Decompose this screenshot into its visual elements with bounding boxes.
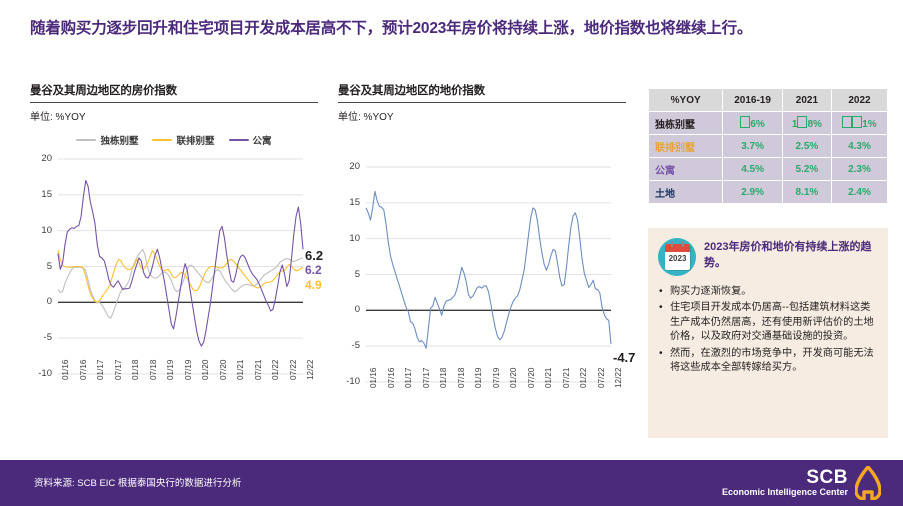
table-header-2: 2021: [782, 89, 831, 112]
calendar-2023-icon: 2023: [658, 238, 696, 276]
table-row: 土地2.9%8.1%2.4%: [649, 181, 888, 204]
x-tick-07-21: 07/21: [254, 360, 263, 381]
x-tick-01-19: 01/19: [474, 368, 483, 389]
chart1-title: 曼谷及其周边地区的房价指数: [30, 82, 318, 98]
table-cell-3-0: 2.9%: [723, 181, 783, 204]
table-cell-2-1: 5.2%: [782, 158, 831, 181]
y-tick-20: 20: [30, 153, 52, 164]
chart1-legend: 独栋别墅联排别墅公寓: [30, 133, 318, 147]
chart2-unit: 单位: %YOY: [338, 108, 626, 123]
x-tick-07-22: 07/22: [289, 360, 298, 381]
chart-panel-land-price: 曼谷及其周边地区的地价指数 单位: %YOY 20151050-5-1001/1…: [338, 82, 626, 390]
x-tick-01-16: 01/16: [369, 368, 378, 389]
table-row: 公寓4.5%5.2%2.3%: [649, 158, 888, 181]
series-line-联排别墅: [58, 250, 303, 302]
series-line-地价指数: [366, 191, 611, 348]
series-line-独栋别墅: [58, 249, 303, 318]
legend-swatch-1: [152, 139, 172, 141]
y-tick-5: 5: [30, 261, 52, 272]
source-note: 资料来源: SCB EIC 根据泰国央行的数据进行分析: [34, 475, 241, 489]
table-cell-0-0: 6%: [723, 112, 783, 135]
table-header-row: %YOY2016-1920212022: [649, 89, 888, 112]
x-tick-07-16: 07/16: [79, 360, 88, 381]
x-tick-07-17: 07/17: [422, 368, 431, 389]
table-body: 独栋别墅6%18%1%联排别墅3.7%2.5%4.3%公寓4.5%5.2%2.3…: [649, 112, 888, 204]
table-cell-0-2: 1%: [831, 112, 887, 135]
x-tick-01-21: 01/21: [236, 360, 245, 381]
table-header-3: 2022: [831, 89, 887, 112]
callout-box: 2023 2023年房价和地价有持续上涨的趋势。 购买力逐渐恢复。住宅项目开发成…: [648, 228, 888, 438]
x-tick-01-19: 01/19: [166, 360, 175, 381]
y-tick-15: 15: [30, 189, 52, 200]
table-row-label-1: 联排别墅: [649, 135, 723, 158]
table-row-label-3: 土地: [649, 181, 723, 204]
scb-logo-main: SCB: [722, 468, 848, 488]
table-row: 联排别墅3.7%2.5%4.3%: [649, 135, 888, 158]
x-tick-07-19: 07/19: [184, 360, 193, 381]
legend-item-1: 联排别墅: [152, 133, 214, 147]
x-tick-07-17: 07/17: [114, 360, 123, 381]
callout-heading: 2023年房价和地价有持续上涨的趋势。: [704, 238, 876, 272]
y-tick--5: -5: [30, 332, 52, 343]
calendar-year-label: 2023: [665, 254, 690, 263]
legend-swatch-0: [76, 139, 96, 141]
chart-panel-house-price: 曼谷及其周边地区的房价指数 单位: %YOY 独栋别墅联排别墅公寓 201510…: [30, 82, 318, 382]
calendar-ring-right: [682, 241, 684, 247]
x-tick-01-17: 01/17: [404, 368, 413, 389]
callout-bullet-1: 住宅项目开发成本仍居高--包括建筑材料这类生产成本仍然居高，还有使用新评估价的土…: [658, 301, 876, 344]
y-tick-5: 5: [338, 269, 360, 280]
end-label-2: 4.9: [305, 278, 322, 292]
x-tick-07-18: 07/18: [149, 360, 158, 381]
x-tick-07-16: 07/16: [387, 368, 396, 389]
y-tick-10: 10: [30, 225, 52, 236]
table-row: 独栋别墅6%18%1%: [649, 112, 888, 135]
table-cell-0-1: 18%: [782, 112, 831, 135]
y-tick-10: 10: [338, 233, 360, 244]
x-tick-01-16: 01/16: [61, 360, 70, 381]
callout-bullet-list: 购买力逐渐恢复。住宅项目开发成本仍居高--包括建筑材料这类生产成本仍然居高，还有…: [658, 285, 876, 376]
legend-swatch-2: [229, 139, 249, 141]
table-cell-2-0: 4.5%: [723, 158, 783, 181]
calendar-header-bar: [665, 244, 690, 252]
table-cell-3-1: 8.1%: [782, 181, 831, 204]
footer-bar: 资料来源: SCB EIC 根据泰国央行的数据进行分析 SCB Economic…: [0, 460, 903, 506]
chart1-plot: 20151050-5-1001/1607/1601/1707/1701/1807…: [30, 153, 318, 382]
calendar-ring-left: [671, 241, 673, 247]
x-tick-12-22: 12/22: [614, 368, 623, 389]
y-tick--5: -5: [338, 340, 360, 351]
page-title: 随着购买力逐步回升和住宅项目开发成本居高不下，预计2023年房价将持续上涨，地价…: [30, 18, 878, 40]
x-tick-07-20: 07/20: [527, 368, 536, 389]
table-cell-3-2: 2.4%: [831, 181, 887, 204]
x-tick-01-22: 01/22: [579, 368, 588, 389]
scb-logo: SCB Economic Intelligence Center: [722, 466, 881, 500]
house-price-index-svg: [30, 153, 321, 382]
x-tick-01-20: 01/20: [201, 360, 210, 381]
y-tick--10: -10: [338, 376, 360, 387]
series-line-公寓: [58, 181, 303, 347]
scb-logo-text: SCB Economic Intelligence Center: [722, 468, 848, 497]
yoy-table: %YOY2016-1920212022 独栋别墅6%18%1%联排别墅3.7%2…: [648, 88, 888, 204]
chart1-rule: [30, 102, 318, 103]
chart2-title: 曼谷及其周边地区的地价指数: [338, 82, 626, 98]
x-tick-07-20: 07/20: [219, 360, 228, 381]
chart1-unit: 单位: %YOY: [30, 108, 318, 123]
chart2-rule: [338, 102, 626, 103]
x-tick-07-19: 07/19: [492, 368, 501, 389]
table-row-label-0: 独栋别墅: [649, 112, 723, 135]
x-tick-07-22: 07/22: [597, 368, 606, 389]
x-tick-01-18: 01/18: [131, 360, 140, 381]
x-tick-01-21: 01/21: [544, 368, 553, 389]
legend-label-2: 公寓: [253, 133, 272, 147]
x-tick-07-21: 07/21: [562, 368, 571, 389]
table-cell-1-0: 3.7%: [723, 135, 783, 158]
y-tick--10: -10: [30, 368, 52, 379]
callout-header: 2023 2023年房价和地价有持续上涨的趋势。: [658, 238, 876, 276]
x-tick-07-18: 07/18: [457, 368, 466, 389]
y-tick-0: 0: [30, 296, 52, 307]
y-tick-0: 0: [338, 304, 360, 315]
end-label-1: 6.2: [305, 263, 322, 277]
table-cell-2-2: 2.3%: [831, 158, 887, 181]
x-tick-01-22: 01/22: [271, 360, 280, 381]
legend-item-0: 独栋别墅: [76, 133, 138, 147]
table-cell-1-2: 4.3%: [831, 135, 887, 158]
scb-logo-subtitle: Economic Intelligence Center: [722, 488, 848, 497]
x-tick-01-17: 01/17: [96, 360, 105, 381]
calendar-body: 2023: [665, 244, 690, 270]
land-price-index-svg: [338, 161, 629, 390]
y-tick-20: 20: [338, 161, 360, 172]
x-tick-12-22: 12/22: [306, 360, 315, 381]
callout-bullet-2: 然而，在激烈的市场竞争中，开发商可能无法将这些成本全部转嫁给买方。: [658, 347, 876, 376]
table-header-1: 2016-19: [723, 89, 783, 112]
y-tick-15: 15: [338, 197, 360, 208]
x-tick-01-18: 01/18: [439, 368, 448, 389]
legend-label-0: 独栋别墅: [100, 133, 138, 147]
table-row-label-2: 公寓: [649, 158, 723, 181]
end-label-0: -4.7: [613, 350, 635, 365]
legend-label-1: 联排别墅: [176, 133, 214, 147]
callout-bullet-0: 购买力逐渐恢复。: [658, 285, 876, 299]
x-tick-01-20: 01/20: [509, 368, 518, 389]
table-cell-1-1: 2.5%: [782, 135, 831, 158]
chart2-plot: 20151050-5-1001/1607/1601/1707/1701/1807…: [338, 161, 626, 390]
legend-item-2: 公寓: [229, 133, 272, 147]
table-header-0: %YOY: [649, 89, 723, 112]
scb-leaf-icon: [855, 466, 881, 500]
end-label-0: 6.2: [305, 248, 323, 263]
